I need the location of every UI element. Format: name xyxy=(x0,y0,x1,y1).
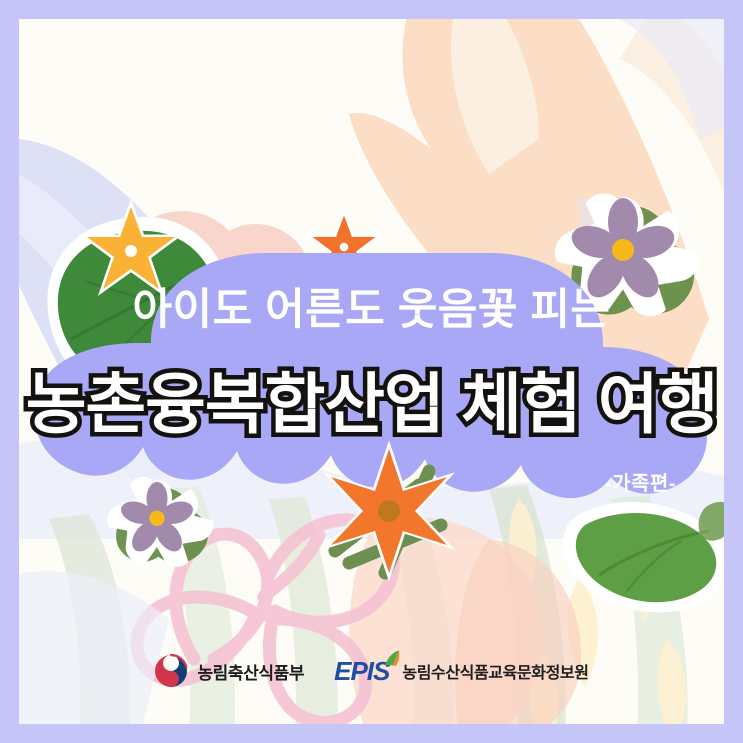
logo-label-epis: 농림수산식품교육문화정보원 xyxy=(402,659,588,683)
logo-label-mafra: 농림축산식품부 xyxy=(197,659,304,684)
headline-text-stack: 아이도 어른도 웃음꽃 피는 농촌융복합산업 체험 여행 -가족편- xyxy=(19,247,724,515)
taegeuk-icon xyxy=(154,654,188,688)
page-title: 농촌융복합산업 체험 여행 xyxy=(19,371,724,437)
logo-mafra: 농림축산식품부 xyxy=(154,654,304,688)
poster-root: 아이도 어른도 웃음꽃 피는 농촌융복합산업 체험 여행 -가족편- xyxy=(0,0,743,743)
headline-cloud: 아이도 어른도 웃음꽃 피는 농촌융복합산업 체험 여행 -가족편- xyxy=(19,247,724,515)
logo-epis: EPIS 농림수산식품교육문화정보원 xyxy=(334,658,588,684)
footer-logo-bar: 농림축산식품부 EPIS 농림수산식품교육문화정보원 xyxy=(19,654,724,688)
headline-subline: 아이도 어른도 웃음꽃 피는 xyxy=(19,289,724,332)
epis-wordmark: EPIS xyxy=(334,658,393,684)
poster-canvas: 아이도 어른도 웃음꽃 피는 농촌융복합산업 체험 여행 -가족편- xyxy=(19,19,724,724)
epis-swoosh-icon xyxy=(382,649,402,669)
edition-tag: -가족편- xyxy=(605,467,676,496)
epis-wordmark-text: EPIS xyxy=(334,656,389,686)
